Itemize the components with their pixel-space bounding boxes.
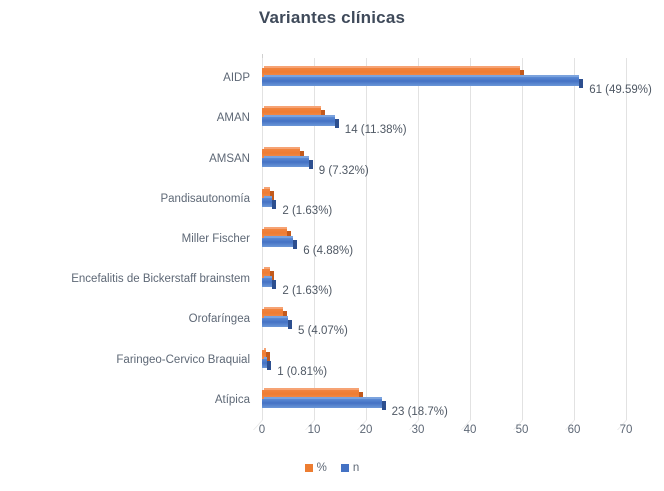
category-label-text: AIDP xyxy=(223,72,250,84)
x-tick-label: 0 xyxy=(259,424,265,436)
chart-container: Variantes clínicas AIDPAMANAMSANPandisau… xyxy=(0,0,664,491)
data-label: 1 (0.81%) xyxy=(277,366,327,378)
category-label-text: Orofaríngea xyxy=(189,313,250,325)
x-tick-label: 60 xyxy=(568,424,581,436)
category-label-text: Faringeo-Cervico Braquial xyxy=(116,354,250,366)
chart-legend: %n xyxy=(0,462,664,474)
category-label: AMSAN xyxy=(0,138,256,178)
category-label-text: AMAN xyxy=(217,112,250,124)
bar-end-cap xyxy=(272,200,276,209)
data-label: 9 (7.32%) xyxy=(319,165,369,177)
bar-count[interactable] xyxy=(262,238,297,247)
bar-front-face xyxy=(262,158,309,167)
gridline xyxy=(470,58,471,420)
bar-count[interactable] xyxy=(262,198,276,207)
bar-front-face xyxy=(262,117,335,126)
bar-end-cap xyxy=(272,280,276,289)
bar-count[interactable] xyxy=(262,318,292,327)
x-tick-label: 10 xyxy=(308,424,321,436)
gridline xyxy=(522,58,523,420)
gridline xyxy=(418,58,419,420)
bar-front-face xyxy=(262,77,579,86)
value-axis-ticks: 010203040506070 xyxy=(262,424,626,444)
bar-end-cap xyxy=(335,119,339,128)
bar-front-face xyxy=(262,238,293,247)
gridline xyxy=(366,58,367,420)
category-label: AIDP xyxy=(0,58,256,98)
data-label: 6 (4.88%) xyxy=(303,245,353,257)
bar-end-cap xyxy=(579,79,583,88)
category-label: Pandisautonomía xyxy=(0,179,256,219)
category-label: Atípica xyxy=(0,380,256,420)
bar-count[interactable] xyxy=(262,359,271,368)
legend-item-percent[interactable]: % xyxy=(305,462,327,474)
data-label: 2 (1.63%) xyxy=(282,285,332,297)
bar-end-cap xyxy=(267,361,271,370)
data-label: 14 (11.38%) xyxy=(345,124,407,136)
bar-front-face xyxy=(262,198,272,207)
chart-title: Variantes clínicas xyxy=(0,8,664,28)
bar-end-cap xyxy=(293,240,297,249)
data-label: 23 (18.7%) xyxy=(392,406,448,418)
legend-swatch-icon xyxy=(305,464,313,472)
x-tick-label: 30 xyxy=(412,424,425,436)
bar-front-face xyxy=(262,399,382,408)
bar-end-cap xyxy=(309,160,313,169)
legend-label: % xyxy=(317,462,327,474)
x-tick-label: 50 xyxy=(516,424,529,436)
bar-end-cap xyxy=(288,320,292,329)
category-label: AMAN xyxy=(0,98,256,138)
bar-count[interactable] xyxy=(262,278,276,287)
data-label: 2 (1.63%) xyxy=(282,205,332,217)
category-label-text: Miller Fischer xyxy=(182,233,250,245)
bar-count[interactable] xyxy=(262,399,386,408)
bar-count[interactable] xyxy=(262,158,313,167)
legend-item-count[interactable]: n xyxy=(341,462,359,474)
category-label-text: Atípica xyxy=(215,394,250,406)
category-label: Miller Fischer xyxy=(0,219,256,259)
gridline xyxy=(626,58,627,420)
plot-area: 61 (49.59%)14 (11.38%)9 (7.32%)2 (1.63%)… xyxy=(262,58,626,420)
category-label-text: Encefalitis de Bickerstaff brainstem xyxy=(71,273,250,285)
category-label-text: Pandisautonomía xyxy=(160,193,250,205)
data-label: 5 (4.07%) xyxy=(298,325,348,337)
legend-label: n xyxy=(353,462,359,474)
gridline xyxy=(574,58,575,420)
bar-end-cap xyxy=(382,401,386,410)
bar-count[interactable] xyxy=(262,77,583,86)
x-tick-label: 20 xyxy=(360,424,373,436)
x-tick-label: 40 xyxy=(464,424,477,436)
category-axis-labels: AIDPAMANAMSANPandisautonomíaMiller Fisch… xyxy=(0,58,256,420)
data-label: 61 (49.59%) xyxy=(589,84,652,96)
category-label-text: AMSAN xyxy=(209,153,250,165)
category-label: Orofaríngea xyxy=(0,299,256,339)
category-label: Encefalitis de Bickerstaff brainstem xyxy=(0,259,256,299)
category-label: Faringeo-Cervico Braquial xyxy=(0,340,256,380)
bar-count[interactable] xyxy=(262,117,339,126)
x-tick-label: 70 xyxy=(620,424,633,436)
bar-front-face xyxy=(262,278,272,287)
legend-swatch-icon xyxy=(341,464,349,472)
bar-front-face xyxy=(262,318,288,327)
